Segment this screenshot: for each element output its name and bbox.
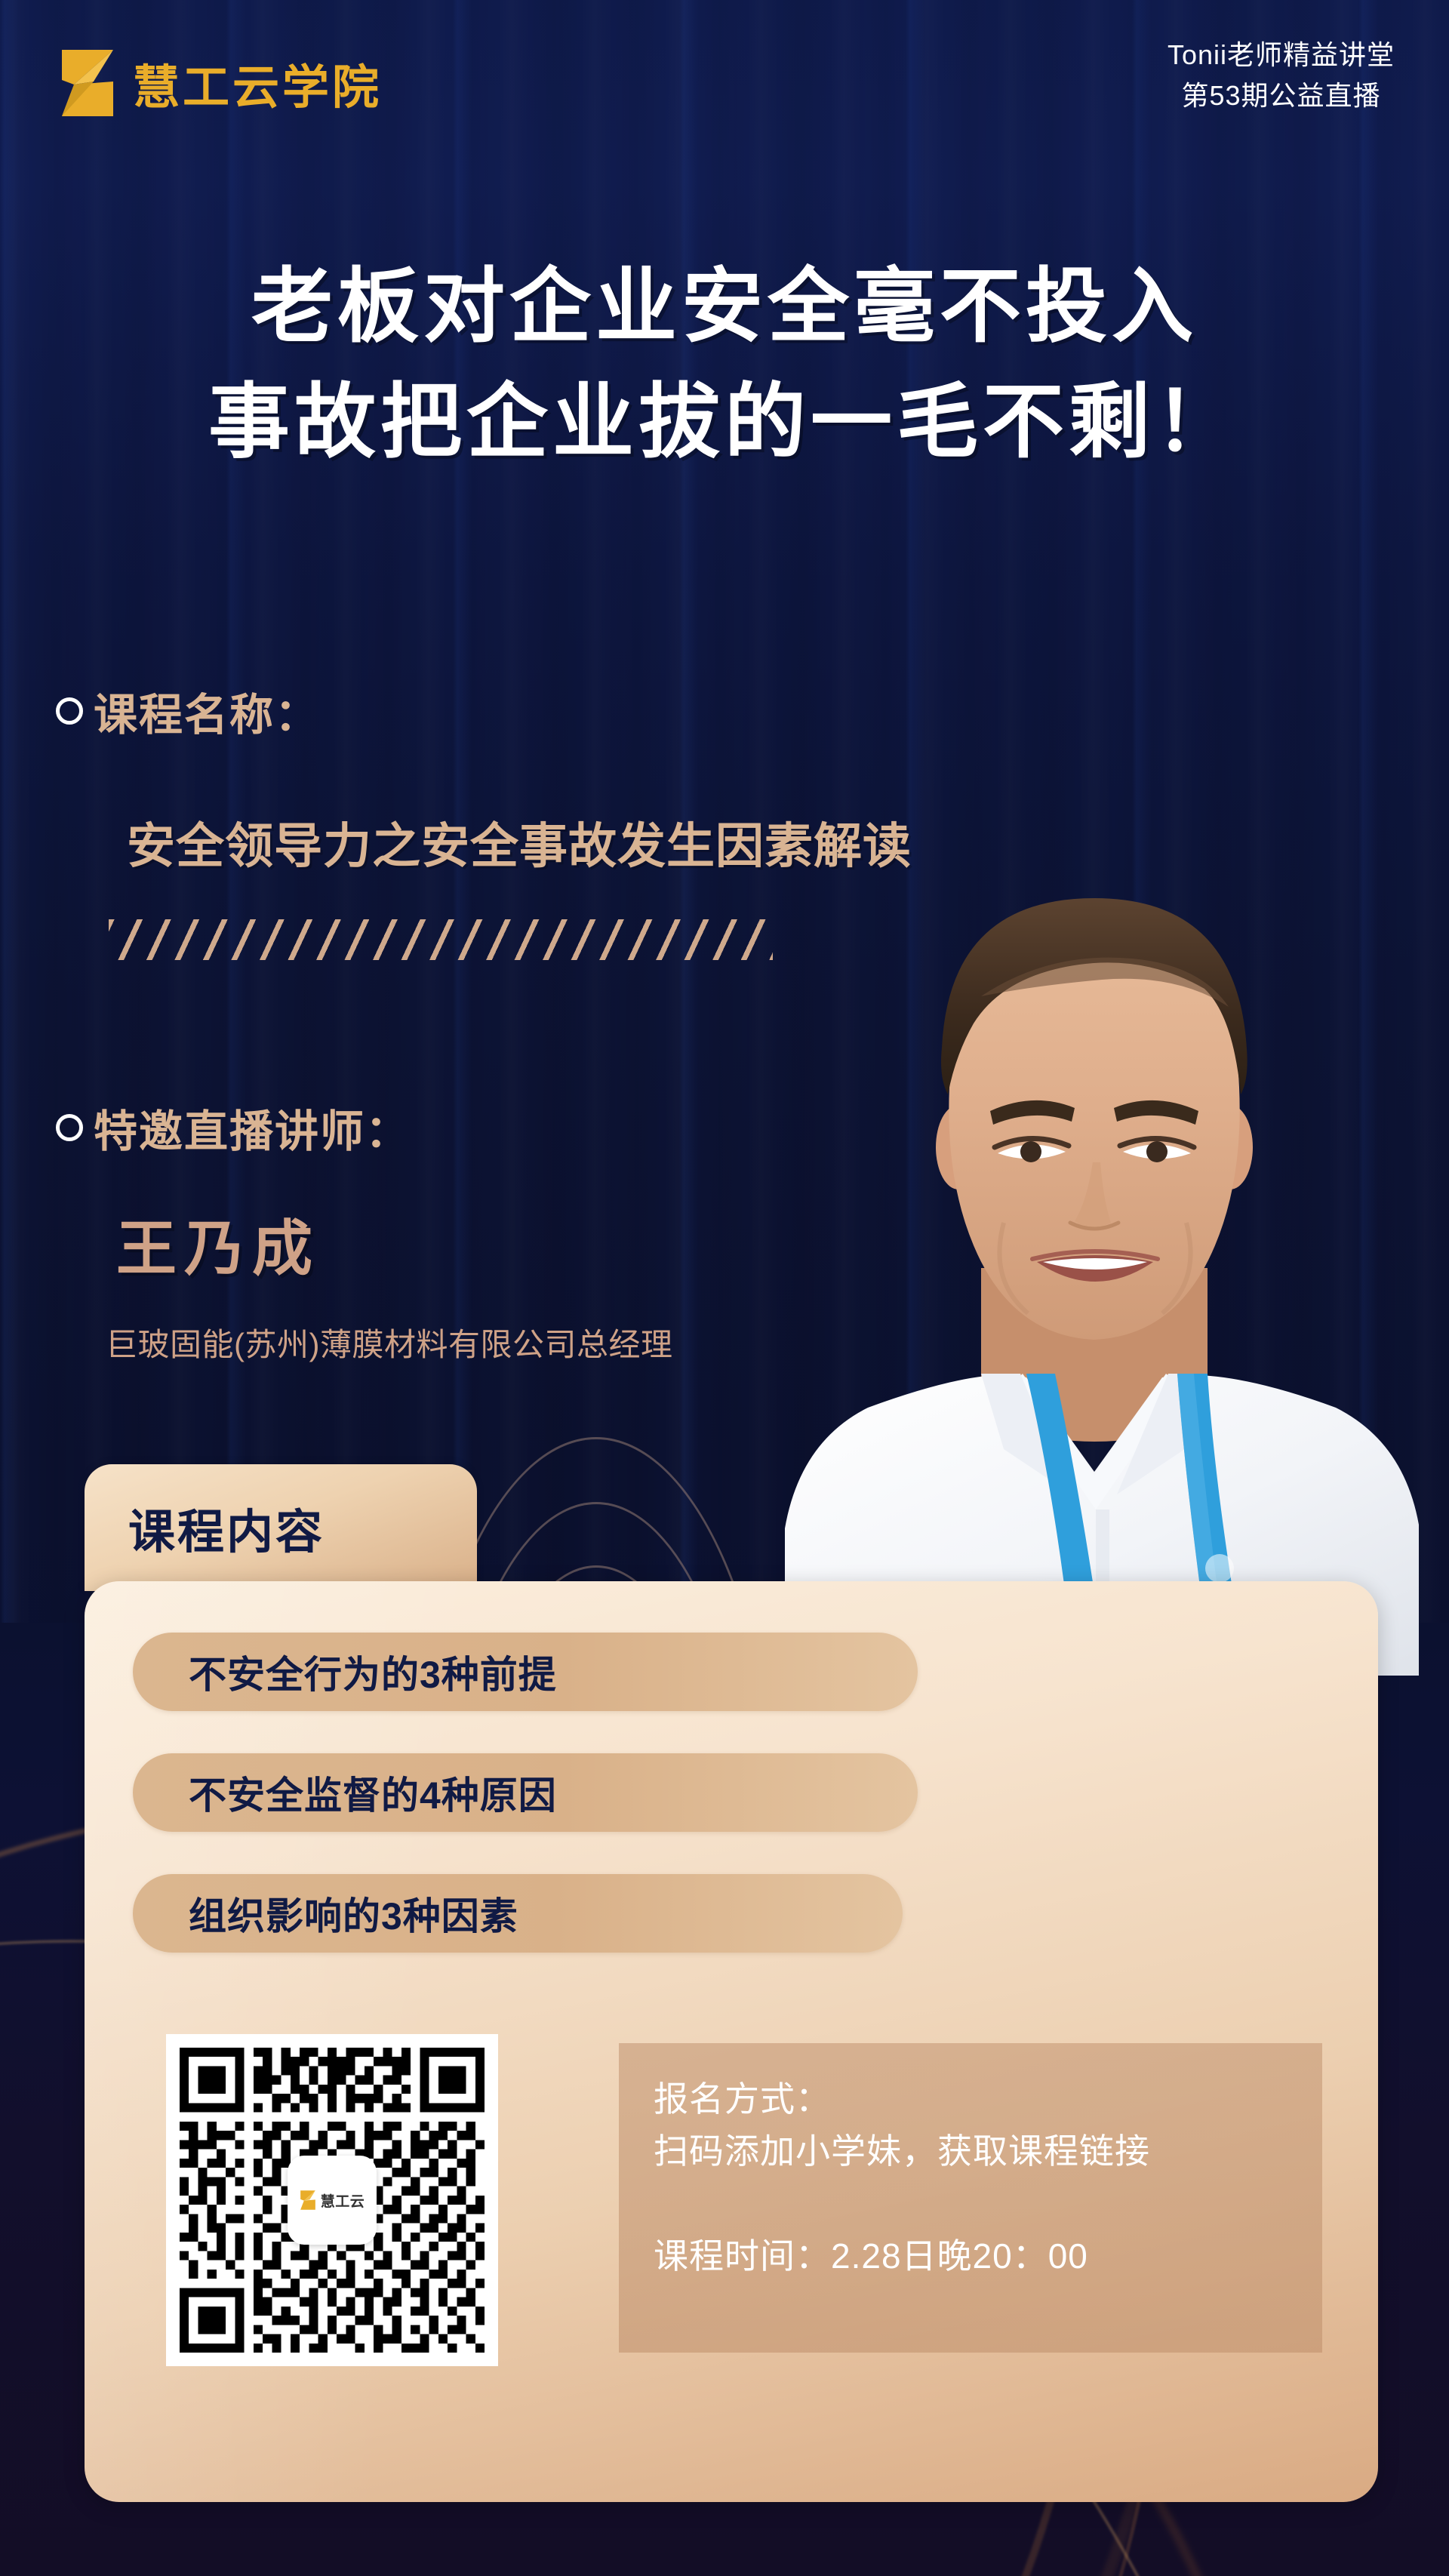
registration-instruction: 扫码添加小学妹，获取课程链接 (654, 2125, 1287, 2177)
course-name-label: 课程名称： (56, 679, 320, 743)
course-label-text: 课程名称： (94, 679, 320, 743)
z-logo-icon (300, 2190, 316, 2211)
circle-bullet-icon (56, 697, 83, 725)
course-title: 安全领导力之安全事故发生因素解读 (127, 808, 912, 877)
list-item: 不安全监督的4种原因 (133, 1753, 918, 1832)
course-content-panel: 不安全行为的3种前提 不安全监督的4种原因 组织影响的3种因素 (85, 1581, 1378, 2502)
poster-canvas: 慧工云学院 Tonii老师精益讲堂 第53期公益直播 老板对企业安全毫不投入 事… (0, 0, 1449, 2576)
z-logo-icon (59, 47, 116, 119)
brand-name: 慧工云学院 (133, 49, 382, 117)
brand-logo: 慧工云学院 (59, 47, 382, 119)
lecturer-label: 特邀直播讲师： (56, 1096, 411, 1159)
qr-center-logo: 慧工云 (288, 2156, 377, 2245)
series-title: Tonii老师精益讲堂 (1168, 35, 1395, 75)
episode-label: 第53期公益直播 (1168, 75, 1395, 116)
content-item-label: 不安全监督的4种原因 (189, 1765, 557, 1820)
list-item: 不安全行为的3种前提 (133, 1633, 918, 1711)
headline: 老板对企业安全毫不投入 事故把企业拔的一毛不剩！ (0, 249, 1449, 481)
headline-line-2: 事故把企业拔的一毛不剩！ (0, 365, 1449, 480)
registration-label: 报名方式： (654, 2073, 1287, 2125)
list-item: 组织影响的3种因素 (133, 1874, 903, 1953)
speaker-photo (755, 845, 1434, 1676)
course-content-tab: 课程内容 (85, 1464, 477, 1591)
content-item-label: 组织影响的3种因素 (189, 1886, 518, 1940)
series-header: Tonii老师精益讲堂 第53期公益直播 (1168, 35, 1395, 116)
slash-divider-decoration (109, 919, 773, 960)
registration-block: 报名方式： 扫码添加小学妹，获取课程链接 课程时间：2.28日晚20：00 (619, 2043, 1322, 2353)
qr-badge-text: 慧工云 (321, 2190, 365, 2211)
headline-line-1: 老板对企业安全毫不投入 (0, 249, 1449, 365)
lecturer-label-text: 特邀直播讲师： (94, 1096, 411, 1159)
lecturer-name: 王乃成 (116, 1200, 320, 1288)
circle-bullet-icon (56, 1114, 83, 1141)
course-content-tab-label: 课程内容 (128, 1494, 325, 1562)
course-time: 课程时间：2.28日晚20：00 (654, 2229, 1287, 2279)
lecturer-organization: 巨玻固能(苏州)薄膜材料有限公司总经理 (106, 1319, 672, 1365)
qr-code[interactable]: 慧工云 (166, 2034, 498, 2366)
content-item-label: 不安全行为的3种前提 (189, 1645, 557, 1699)
